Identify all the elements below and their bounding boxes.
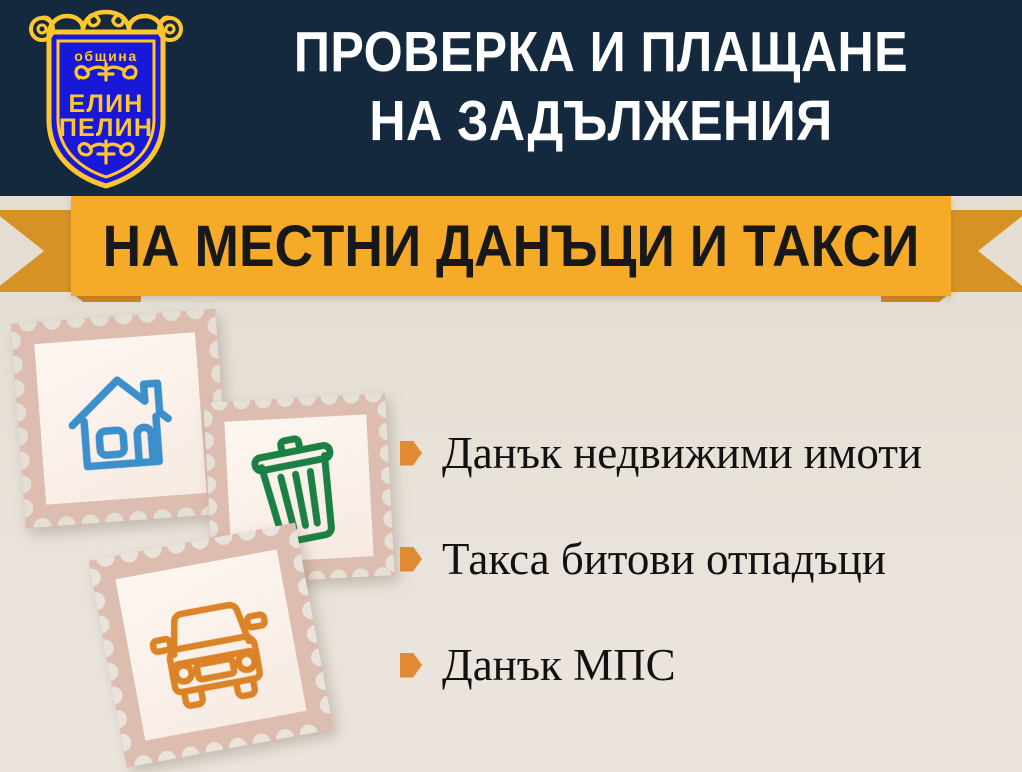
ribbon-label: НА МЕСТНИ ДАНЪЦИ И ТАКСИ [106, 196, 916, 296]
list-item-label: Данък недвижими имоти [442, 431, 922, 476]
list-item: Такса битови отпадъци [400, 530, 1010, 588]
house-icon [11, 309, 230, 528]
list-item-label: Такса битови отпадъци [442, 537, 886, 582]
stamp-car [89, 523, 334, 768]
list-item: Данък недвижими имоти [400, 424, 1010, 482]
municipality-crest-logo: община ЕЛИН ПЕЛИН [27, 8, 185, 190]
arrow-bullet-icon [400, 653, 422, 678]
list-item-label: Данък МПС [442, 643, 676, 688]
crest-icon: община ЕЛИН ПЕЛИН [27, 8, 185, 190]
list-item: Данък МПС [400, 636, 1010, 694]
arrow-bullet-icon [400, 441, 422, 466]
stamp-house [11, 309, 230, 528]
ribbon-banner: НА МЕСТНИ ДАНЪЦИ И ТАКСИ [0, 196, 1022, 306]
page-title: ПРОВЕРКА И ПЛАЩАНЕ НА ЗАДЪЛЖЕНИЯ [231, 18, 972, 156]
poster-root: ПРОВЕРКА И ПЛАЩАНЕ НА ЗАДЪЛЖЕНИЯ [0, 0, 1022, 772]
car-icon [89, 523, 334, 768]
crest-name-line2: ПЕЛИН [59, 114, 153, 142]
crest-municipality-label: община [74, 48, 137, 64]
arrow-bullet-icon [400, 547, 422, 572]
tax-type-list: Данък недвижими имоти Такса битови отпад… [400, 424, 1010, 694]
